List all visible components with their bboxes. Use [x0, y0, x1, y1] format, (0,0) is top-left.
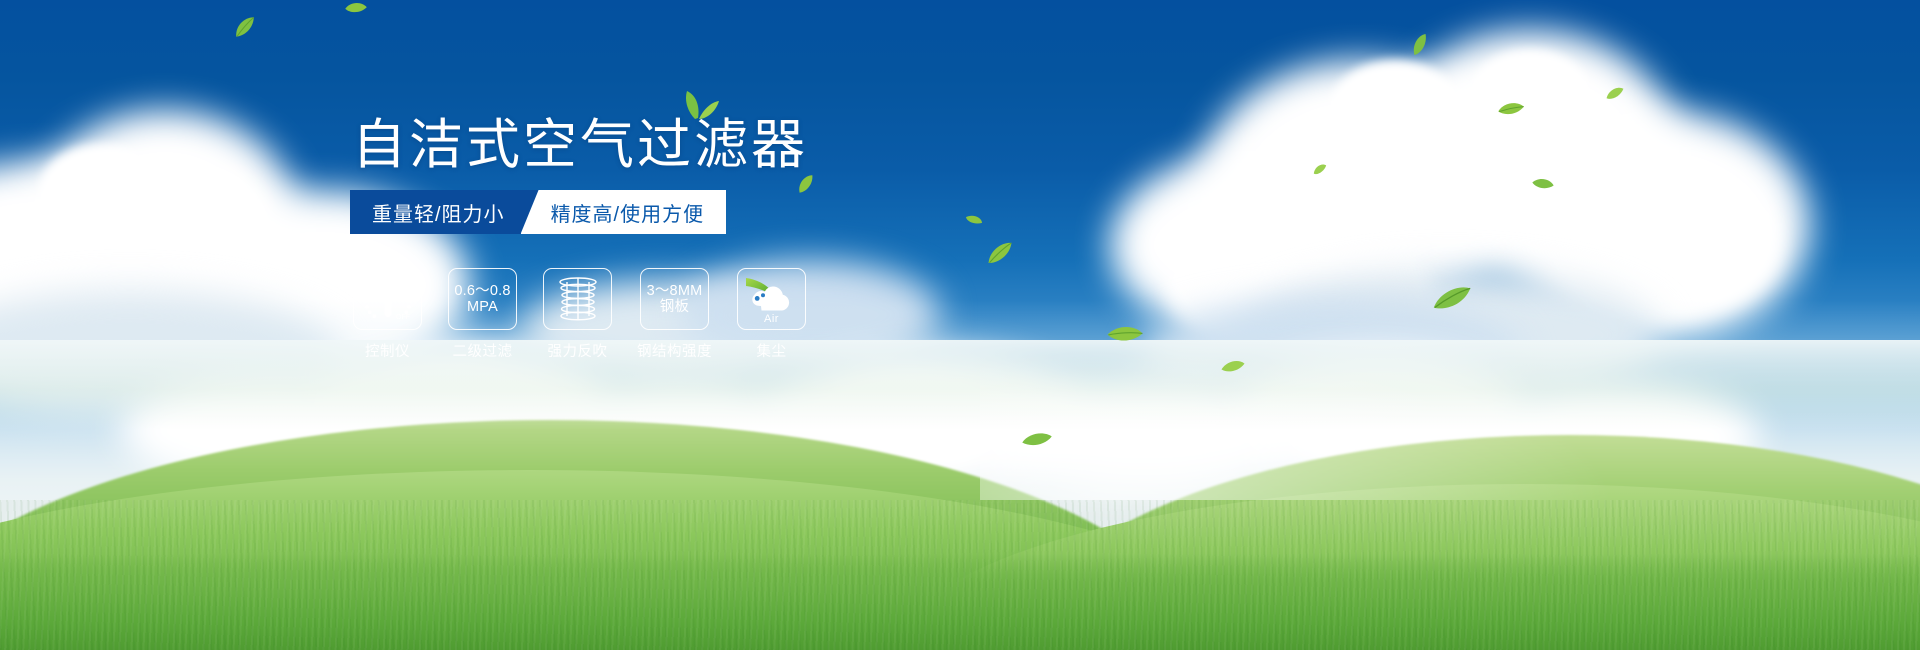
- air-label: Air: [738, 313, 805, 325]
- feature-caption: 集尘: [757, 340, 787, 361]
- feature-list: NO OFF 控制仪 0.6～0.8 MPA 二级过滤: [352, 268, 807, 361]
- banner-content: 自洁式空气过滤器 重量轻/阻力小 精度高/使用方便: [0, 0, 1920, 650]
- feature-item-dust-collection: Air 集尘: [736, 268, 807, 361]
- page-title: 自洁式空气过滤器: [352, 118, 808, 172]
- feature-icon-box: 0.6～0.8 MPA: [448, 268, 517, 330]
- feature-caption: 控制仪: [365, 340, 410, 361]
- feature-icon-box: NO OFF: [353, 268, 422, 330]
- feature-caption: 钢结构强度: [637, 340, 712, 361]
- feature-caption: 强力反吹: [548, 340, 608, 361]
- feature-icon-box: Air: [737, 268, 806, 330]
- badge-primary: 重量轻/阻力小: [350, 190, 539, 234]
- filter-cartridge-icon: [553, 275, 603, 323]
- feature-item-blowback: 强力反吹: [542, 268, 613, 361]
- feature-caption: 二级过滤: [453, 340, 513, 361]
- badge-secondary: 精度高/使用方便: [521, 190, 727, 234]
- svg-text:OFF: OFF: [396, 314, 410, 321]
- gauge-icon: NO OFF: [360, 275, 416, 323]
- feature-icon-box: 3～8MM 钢板: [640, 268, 709, 330]
- steel-plate-text-icon: 3～8MM 钢板: [647, 283, 703, 315]
- hero-banner: 自洁式空气过滤器 重量轻/阻力小 精度高/使用方便: [0, 0, 1920, 650]
- pressure-text-icon: 0.6～0.8 MPA: [454, 283, 510, 315]
- feature-item-steel: 3～8MM 钢板 钢结构强度: [637, 268, 712, 361]
- feature-item-pressure: 0.6～0.8 MPA 二级过滤: [447, 268, 518, 361]
- svg-text:NO: NO: [365, 295, 377, 304]
- feature-icon-box: [543, 268, 612, 330]
- feature-item-control-gauge: NO OFF 控制仪: [352, 268, 423, 361]
- badge-group: 重量轻/阻力小 精度高/使用方便: [350, 190, 726, 234]
